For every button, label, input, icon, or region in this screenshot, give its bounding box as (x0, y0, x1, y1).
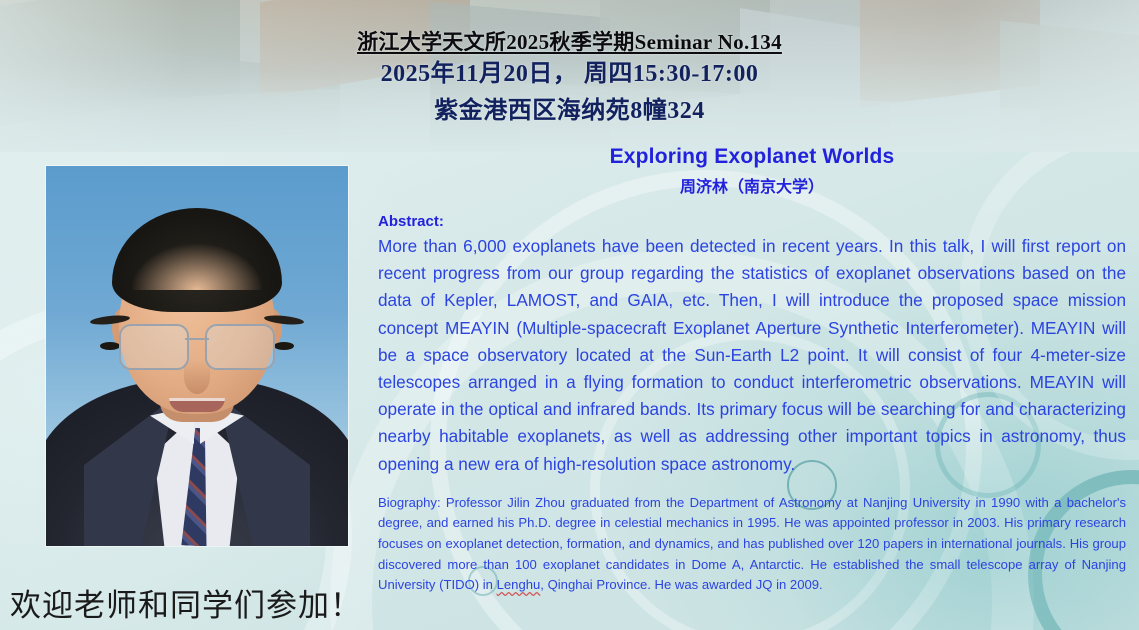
talk-title: Exploring Exoplanet Worlds (378, 142, 1126, 172)
abstract-text: More than 6,000 exoplanets have been det… (378, 233, 1126, 478)
biography-spellchecked-word: Lenghu (497, 577, 541, 592)
portrait-hair (112, 208, 282, 312)
seminar-venue: 紫金港西区海纳苑8幢324 (0, 92, 1139, 130)
header-block: 浙江大学天文所2025秋季学期Seminar No.134 2025年11月20… (0, 28, 1139, 130)
biography-text: Biography: Professor Jilin Zhou graduate… (378, 493, 1126, 596)
eyeglass-bridge (185, 338, 209, 340)
eyeglass-lens-left (119, 324, 189, 370)
seminar-datetime: 2025年11月20日， 周四15:30-17:00 (0, 56, 1139, 92)
talk-speaker: 周济林（南京大学） (378, 174, 1126, 202)
portrait-mouth (169, 398, 225, 412)
speaker-portrait-photo (46, 166, 348, 546)
biography-text-part2: , Qinghai Province. He was awarded JQ in… (540, 577, 822, 592)
portrait-nose (184, 360, 210, 394)
seminar-series-title: 浙江大学天文所2025秋季学期Seminar No.134 (0, 28, 1139, 56)
abstract-label: Abstract: (378, 212, 1126, 232)
seminar-poster: 浙江大学天文所2025秋季学期Seminar No.134 2025年11月20… (0, 0, 1139, 630)
eyeglass-lens-right (205, 324, 275, 370)
content-column: Exploring Exoplanet Worlds 周济林（南京大学） Abs… (378, 142, 1126, 596)
welcome-message: 欢迎老师和同学们参加！ (10, 580, 362, 625)
